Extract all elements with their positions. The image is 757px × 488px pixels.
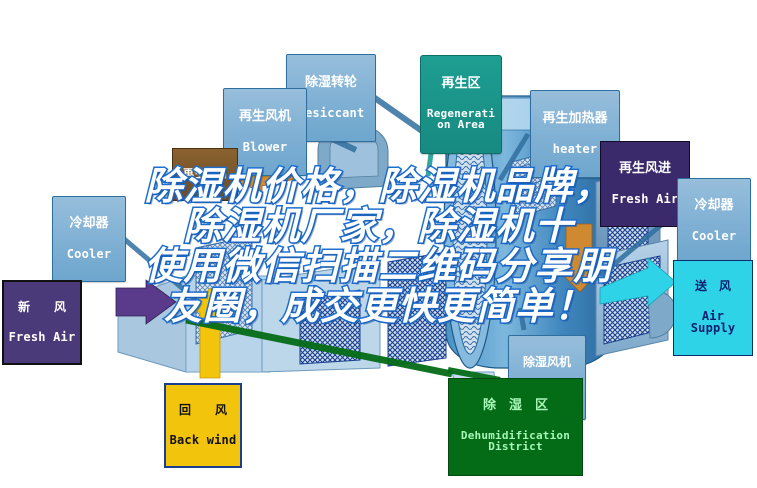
callout-cooler-right-cn: 冷却器 (680, 199, 748, 213)
callout-regeneration-area-cn: 再生区 (424, 77, 498, 91)
callout-cooler-right: 冷却器 Cooler (677, 178, 751, 264)
callout-dehumidification-district-cn: 除 湿 区 (452, 399, 579, 413)
callout-fresh-air-cn: 新 风 (7, 301, 77, 314)
callout-regen-heater-cn: 再生加热器 (534, 112, 616, 126)
callout-air-supply: 送 风 Air Supply (673, 260, 753, 356)
callout-dehumidification-district: 除 湿 区 Dehumidification District (448, 378, 583, 476)
callout-back-wind-en: Back wind (169, 434, 237, 447)
callout-regen-blower-cn: 再生风机 (227, 110, 303, 124)
callout-fresh-air: 新 风 Fresh Air (2, 280, 82, 365)
callout-cooler-right-en: Cooler (680, 230, 748, 243)
callout-cooler-left: 冷却器 Cooler (52, 196, 126, 282)
callout-regen-air-in-en: Fresh Air (604, 193, 686, 206)
callout-back-wind: 回 风 Back wind (164, 383, 242, 468)
callout-cooler-left-cn: 冷却器 (55, 217, 123, 231)
callout-air-supply-cn: 送 风 (676, 280, 750, 293)
callout-regeneration-area-en: Regenerati on Area (424, 108, 498, 131)
callout-regen-blower-en: Blower (227, 141, 303, 154)
callout-regeneration-area: 再生区 Regenerati on Area (420, 55, 502, 154)
callout-dehumidification-district-en: Dehumidification District (452, 430, 579, 453)
callout-regen-air-out: 再生风出 (172, 148, 238, 201)
callout-dehum-blower-cn: 除湿风机 (511, 356, 583, 369)
callout-regen-air-out-cn: 再生风出 (175, 168, 235, 180)
callout-cooler-left-en: Cooler (55, 248, 123, 261)
diagram-canvas: 除湿转轮 Desiccant 再生风机 Blower 再生区 Regenerat… (0, 0, 757, 488)
callout-regen-air-in-cn: 再生风进 (604, 162, 686, 176)
callout-fresh-air-en: Fresh Air (7, 331, 77, 344)
callout-air-supply-en: Air Supply (676, 310, 750, 335)
process-filter-mesh (388, 252, 446, 366)
callout-back-wind-cn: 回 风 (169, 404, 237, 417)
